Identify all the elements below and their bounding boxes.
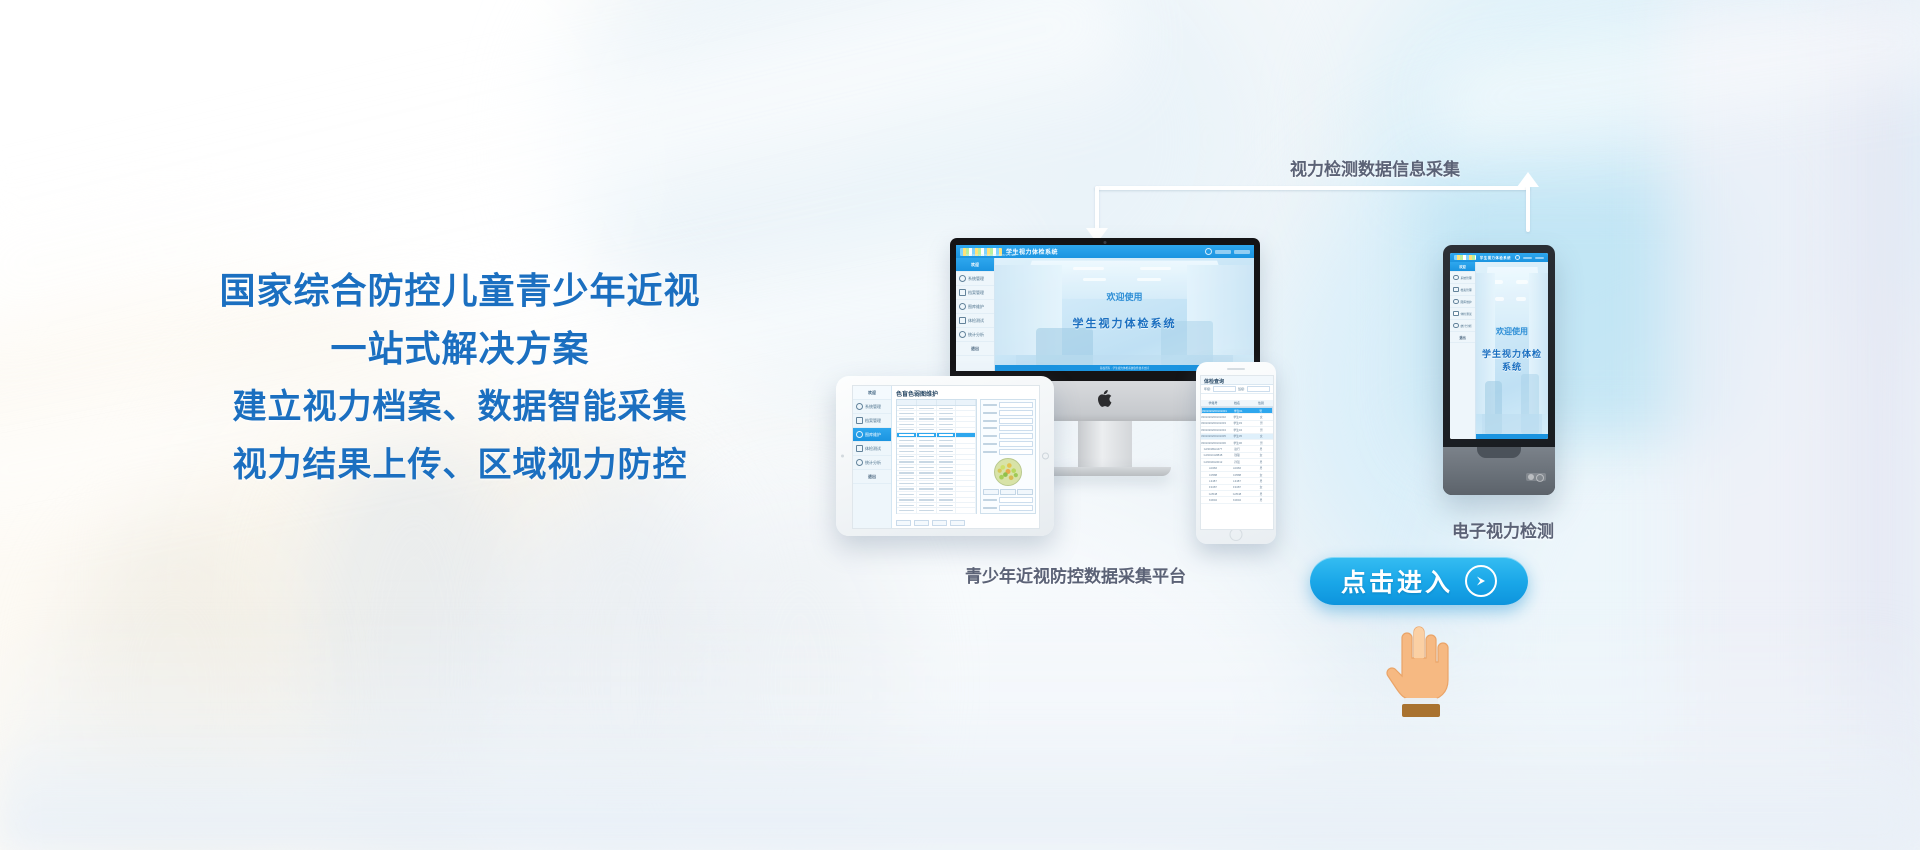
sidebar-item-archive[interactable]: 档案管理 — [956, 286, 994, 300]
form-row[interactable] — [983, 497, 1033, 503]
circled-arrow-right-icon — [1465, 565, 1497, 597]
table-toolbar — [896, 520, 1035, 525]
sidebar-label: 退出 — [1459, 335, 1465, 340]
connector-left-bar — [1095, 186, 1099, 230]
connector-right-bar — [1526, 186, 1530, 232]
form-button-row — [983, 489, 1033, 495]
toolbar-button[interactable] — [932, 520, 947, 526]
form-row[interactable] — [983, 418, 1033, 424]
page-title: 色盲色弱图维护 — [892, 386, 1039, 400]
apple-logo-icon — [1098, 390, 1113, 407]
hero-lamp — [1516, 297, 1525, 301]
col-id: 学籍号 — [1201, 401, 1225, 405]
sidebar-item-archive[interactable]: 档案管理 — [853, 414, 891, 428]
sidebar-item-exam[interactable]: 体检测试 — [956, 314, 994, 328]
gallery-icon — [1453, 299, 1459, 305]
welcome-big-text: 学生视力体检系统 — [1073, 315, 1177, 331]
sidebar-item-welcome[interactable]: 欢迎 — [1450, 262, 1475, 272]
headline-line-1: 国家综合防控儿童青少年近视 — [180, 262, 740, 320]
user-name-chip[interactable] — [1215, 250, 1231, 254]
kiosk-card-slot[interactable] — [1477, 447, 1521, 458]
exam-icon — [959, 317, 966, 324]
enter-button-label: 点击进入 — [1341, 563, 1453, 599]
flow-caption: 视力检测数据信息采集 — [1290, 155, 1460, 180]
kiosk-base — [1443, 447, 1555, 495]
phone-speaker-icon — [1227, 368, 1245, 370]
phone-screen: 体检查询 年级: 班级: 学籍号 姓名 性别 3301020200101001 … — [1200, 375, 1274, 530]
kiosk-app-title: 学生视力体检系统 — [1480, 255, 1511, 260]
col-sex: 性别 — [1249, 401, 1273, 405]
sidebar-label: 欢迎 — [1459, 264, 1466, 269]
kiosk-app-footer — [1476, 434, 1548, 439]
form-row[interactable] — [983, 449, 1033, 455]
form-button[interactable] — [1017, 489, 1033, 495]
app-logo-icon — [1454, 255, 1476, 260]
sidebar-item-welcome[interactable]: 欢迎 — [956, 258, 994, 272]
monitor-bezel: 学生视力体检系统 STUDENT VISION EXAMINATION SYST… — [950, 238, 1260, 381]
hero-lamp — [1140, 267, 1171, 270]
tablet-sidebar: 欢迎 系统管理 档案管理 图库维护 — [853, 386, 892, 528]
sidebar-item-exam[interactable]: 体检测试 — [853, 442, 891, 456]
kiosk-topbar: 学生视力体检系统 — [1450, 253, 1548, 262]
gallery-maintenance-page: 色盲色弱图维护 — [892, 386, 1039, 528]
sidebar-label: 系统管理 — [1461, 276, 1472, 280]
system-icon — [856, 403, 863, 410]
sidebar-item-statistics[interactable]: 统计分析 — [853, 456, 891, 470]
sidebar-label: 体检测试 — [865, 446, 881, 452]
sidebar-item-system[interactable]: 系统管理 — [853, 400, 891, 414]
sidebar-label: 图库维护 — [865, 432, 881, 438]
exam-icon — [856, 445, 863, 452]
kiosk-app-window: 学生视力体检系统 欢迎 系统管理 — [1450, 253, 1548, 439]
sidebar-item-exam[interactable]: 体检测试 — [1450, 308, 1475, 320]
logout-chip[interactable] — [1234, 250, 1250, 254]
phone-table-header: 学籍号 姓名 性别 — [1201, 400, 1273, 407]
hero-lamp — [1137, 278, 1160, 281]
app-main: 欢迎使用 学生视力体检系统 版权所有 · 学生视力体检系统软件技术支持 — [995, 258, 1254, 371]
sidebar-item-system[interactable]: 系统管理 — [956, 272, 994, 286]
user-icon[interactable] — [1515, 255, 1520, 260]
system-icon — [1453, 275, 1459, 281]
kiosk-welcome-small: 欢迎使用 — [1496, 326, 1528, 337]
filter-select-grade[interactable] — [1213, 386, 1236, 393]
kiosk-caption: 电子视力检测 — [1452, 517, 1554, 542]
kiosk-topbar-actions — [1515, 255, 1544, 260]
kiosk-app-body: 欢迎 系统管理 档案管理 图库维护 — [1450, 262, 1548, 439]
clock-icon — [856, 459, 863, 466]
tablet-screen: 欢迎 系统管理 档案管理 图库维护 — [852, 385, 1040, 529]
sidebar-item-statistics[interactable]: 统计分析 — [1450, 320, 1475, 332]
sidebar-item-gallery[interactable]: 图库维护 — [1450, 296, 1475, 308]
phone-page-title: 体检查询 — [1201, 376, 1273, 385]
hero-lamp — [1516, 280, 1528, 284]
kiosk-screen: 学生视力体检系统 欢迎 系统管理 — [1450, 253, 1548, 439]
user-icon[interactable] — [1205, 248, 1212, 255]
sidebar-label: 欢迎 — [971, 262, 979, 268]
arrow-up-icon — [1517, 172, 1539, 187]
phone-table-row[interactable]: 3301020200101001 学生01 男 — [1201, 407, 1273, 414]
banner-stage: 国家综合防控儿童青少年近视 一站式解决方案 建立视力档案、数据智能采集 视力结果… — [0, 0, 1920, 850]
sidebar-label: 欢迎 — [868, 390, 876, 396]
sidebar-label: 图库维护 — [968, 304, 984, 310]
sidebar-label: 统计分析 — [968, 332, 984, 338]
sidebar-label: 档案管理 — [1461, 288, 1472, 292]
filter-label-grade: 年级: — [1204, 387, 1211, 391]
sidebar-label: 档案管理 — [968, 290, 984, 296]
background-floor — [0, 730, 1920, 850]
form-row[interactable] — [983, 441, 1033, 447]
sidebar-item-welcome[interactable]: 欢迎 — [853, 386, 891, 400]
filter-select-class[interactable] — [1247, 386, 1270, 393]
headline-line-4: 视力结果上传、区域视力防控 — [180, 436, 740, 494]
table-row[interactable] — [897, 508, 976, 513]
logout-chip[interactable] — [1535, 257, 1544, 259]
tablet-app-window: 欢迎 系统管理 档案管理 图库维护 — [853, 386, 1039, 528]
hero-lamp — [1083, 278, 1106, 281]
toolbar-button[interactable] — [950, 520, 965, 526]
toolbar-button[interactable] — [914, 520, 929, 526]
form-button[interactable] — [983, 489, 999, 495]
sidebar-label: 档案管理 — [865, 418, 881, 424]
kiosk-device: 学生视力体检系统 欢迎 系统管理 — [1443, 245, 1555, 495]
data-table — [896, 399, 977, 514]
app-subtitle: STUDENT VISION EXAMINATION SYSTEM — [966, 254, 1016, 257]
col-name: 姓名 — [1225, 401, 1249, 405]
sidebar-item-statistics[interactable]: 统计分析 — [956, 328, 994, 342]
sidebar-item-gallery[interactable]: 图库维护 — [853, 428, 891, 442]
sidebar-item-archive[interactable]: 档案管理 — [1450, 284, 1475, 296]
sidebar-label: 统计分析 — [1461, 324, 1472, 328]
form-button[interactable] — [1000, 489, 1016, 495]
app-sidebar: 欢迎 系统管理 档案管理 — [956, 258, 995, 371]
sidebar-label: 统计分析 — [865, 460, 881, 466]
filter-label-class: 班级: — [1238, 387, 1245, 391]
sidebar-label: 退出 — [971, 346, 979, 352]
tablet-app-body: 欢迎 系统管理 档案管理 图库维护 — [853, 386, 1039, 528]
user-name-chip[interactable] — [1523, 257, 1532, 259]
ishihara-plate-image — [994, 458, 1022, 486]
system-icon — [959, 275, 966, 282]
sidebar-label: 体检测试 — [968, 318, 984, 324]
gallery-icon — [959, 303, 966, 310]
sidebar-item-exit[interactable]: 退出 — [956, 342, 994, 356]
sidebar-label: 系统管理 — [968, 276, 984, 282]
archive-icon — [1453, 287, 1459, 293]
kiosk-printer-slot[interactable] — [1526, 473, 1546, 481]
phone-device: 体检查询 年级: 班级: 学籍号 姓名 性别 3301020200101001 … — [1196, 362, 1276, 544]
app-body: 欢迎 系统管理 档案管理 — [956, 258, 1254, 371]
pointing-hand-icon — [1380, 618, 1454, 718]
app-topbar: 学生视力体检系统 STUDENT VISION EXAMINATION SYST… — [956, 245, 1254, 258]
form-row[interactable] — [983, 505, 1033, 511]
tablet-camera-icon — [841, 455, 844, 458]
connector-horizontal-bar — [1095, 186, 1530, 190]
hero-lamp — [1073, 267, 1104, 270]
form-row[interactable] — [983, 433, 1033, 439]
tablet-app-main: 色盲色弱图维护 — [892, 386, 1039, 528]
headline-line-3: 建立视力档案、数据智能采集 — [180, 378, 740, 436]
kiosk-sidebar: 欢迎 系统管理 档案管理 图库维护 — [1450, 262, 1476, 439]
sidebar-label: 退出 — [868, 474, 876, 480]
kiosk-welcome-hero: 欢迎使用 学生视力体检系统 — [1476, 262, 1548, 439]
form-row[interactable] — [983, 402, 1033, 408]
welcome-hero: 欢迎使用 学生视力体检系统 — [995, 258, 1254, 371]
headline-line-2: 一站式解决方案 — [180, 320, 740, 378]
tablet-caption: 青少年近视防控数据采集平台 — [965, 562, 1186, 587]
tablet-home-button[interactable] — [1042, 453, 1049, 460]
clock-icon — [1453, 323, 1459, 329]
phone-app-window: 体检查询 年级: 班级: 学籍号 姓名 性别 3301020200101001 … — [1201, 376, 1273, 529]
sidebar-item-system[interactable]: 系统管理 — [1450, 272, 1475, 284]
tablet-device: 欢迎 系统管理 档案管理 图库维护 — [836, 376, 1054, 536]
phone-filter-row: 年级: 班级: — [1201, 385, 1273, 394]
archive-icon — [856, 417, 863, 424]
sidebar-item-exit[interactable]: 退出 — [853, 470, 891, 484]
sidebar-label: 体检测试 — [1461, 312, 1472, 316]
exam-icon — [1453, 311, 1459, 317]
welcome-small-text: 欢迎使用 — [1106, 290, 1142, 303]
clock-icon — [959, 331, 966, 338]
monitor-foot — [1039, 467, 1171, 476]
sidebar-label: 图库维护 — [1461, 300, 1472, 304]
detail-form-panel — [980, 399, 1036, 514]
enter-button[interactable]: 点击进入 — [1310, 557, 1528, 605]
webcam-icon — [1104, 241, 1107, 244]
hero-lamp — [1495, 297, 1504, 301]
archive-icon — [959, 289, 966, 296]
toolbar-button[interactable] — [896, 520, 911, 526]
kiosk-welcome-big: 学生视力体检系统 — [1481, 347, 1543, 373]
phone-table-row[interactable]: K3002 K3002 男 — [1201, 497, 1273, 503]
sidebar-item-exit[interactable]: 退出 — [1450, 332, 1475, 343]
kiosk-app-main: 欢迎使用 学生视力体检系统 — [1476, 262, 1548, 439]
app-topbar-actions — [1205, 248, 1250, 255]
desktop-app-window: 学生视力体检系统 STUDENT VISION EXAMINATION SYST… — [956, 245, 1254, 371]
form-row[interactable] — [983, 425, 1033, 431]
form-row[interactable] — [983, 410, 1033, 416]
gallery-icon — [856, 431, 863, 438]
headline-block: 国家综合防控儿童青少年近视 一站式解决方案 建立视力档案、数据智能采集 视力结果… — [180, 262, 740, 494]
sidebar-item-gallery[interactable]: 图库维护 — [956, 300, 994, 314]
sidebar-label: 系统管理 — [865, 404, 881, 410]
monitor-screen: 学生视力体检系统 STUDENT VISION EXAMINATION SYST… — [956, 245, 1254, 371]
monitor-neck — [1078, 421, 1132, 467]
